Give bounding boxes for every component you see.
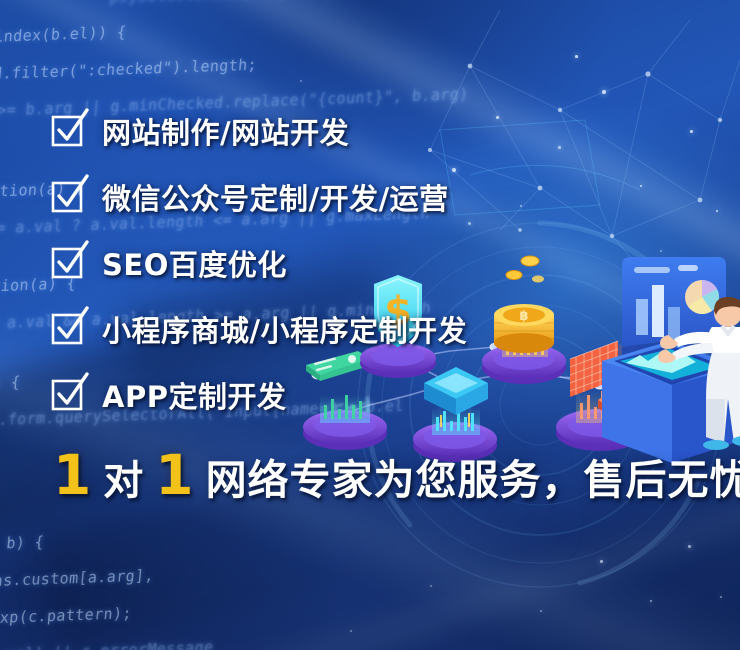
- service-feature-list: 网站制作/网站开发 微信公众号定制/开发/运营: [52, 98, 692, 428]
- feature-label: APP定制开发: [102, 374, 286, 416]
- headline-slogan: 1 对 1 网络专家为您服务，售后无忧！: [50, 448, 740, 503]
- headline-number-second: 1: [152, 448, 196, 503]
- headline-rest-text: 网络专家为您服务，售后无忧！: [197, 460, 740, 501]
- feature-item[interactable]: 网站制作/网站开发: [52, 98, 692, 164]
- feature-label: 网站制作/网站开发: [102, 110, 349, 152]
- checkbox-checked-icon[interactable]: [52, 380, 82, 410]
- headline-middle-word: 对: [94, 461, 152, 501]
- checkbox-checked-icon[interactable]: [52, 314, 82, 344]
- promo-banner: psyselectorAll("input[type=checkbox]").a…: [0, 0, 740, 650]
- checkbox-checked-icon[interactable]: [52, 248, 82, 278]
- headline-number-first: 1: [50, 448, 94, 503]
- feature-item[interactable]: 小程序商城/小程序定制开发: [52, 296, 692, 362]
- feature-label: SEO百度优化: [102, 242, 287, 284]
- feature-label: 小程序商城/小程序定制开发: [102, 308, 467, 350]
- feature-item[interactable]: 微信公众号定制/开发/运营: [52, 164, 692, 230]
- feature-item[interactable]: APP定制开发: [52, 362, 692, 428]
- checkbox-checked-icon[interactable]: [52, 116, 82, 146]
- feature-item[interactable]: SEO百度优化: [52, 230, 692, 296]
- checkbox-checked-icon[interactable]: [52, 182, 82, 212]
- feature-label: 微信公众号定制/开发/运营: [102, 176, 449, 218]
- content-layer: 网站制作/网站开发 微信公众号定制/开发/运营: [0, 0, 740, 650]
